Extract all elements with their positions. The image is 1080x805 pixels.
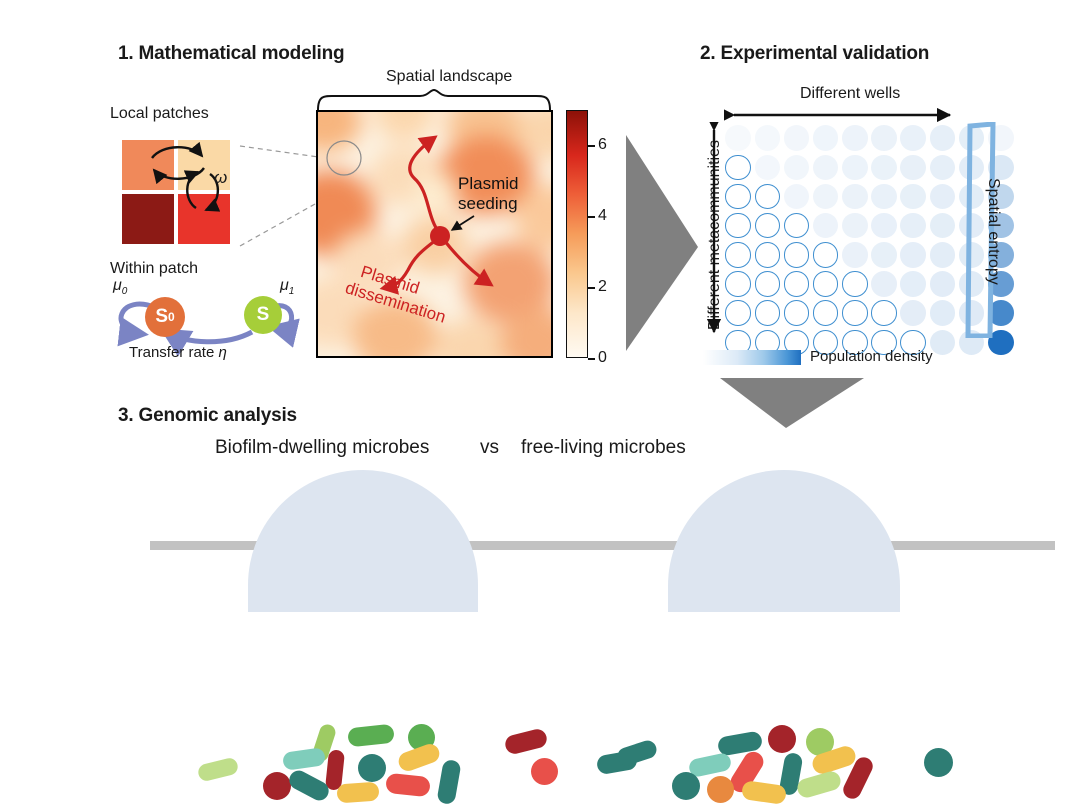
well-faint[interactable] [900,271,926,297]
well-faint[interactable] [900,242,926,268]
different-wells-label: Different wells [800,85,900,103]
well-faint[interactable] [842,155,868,181]
colorbar-tick-0: 0 [598,349,607,367]
omega-symbol: ω [214,168,227,188]
well-open[interactable] [755,271,781,297]
well-open[interactable] [725,271,751,297]
well-open[interactable] [725,213,751,239]
well-faint[interactable] [900,125,926,151]
well-open[interactable] [725,184,751,210]
well-faint[interactable] [930,155,956,181]
well-faint[interactable] [813,213,839,239]
population-density-label: Population density [810,348,933,365]
well-faint[interactable] [725,125,751,151]
well-faint[interactable] [900,213,926,239]
biofilm-dwelling-label: Biofilm-dwelling microbes [215,437,429,459]
well-faint[interactable] [784,155,810,181]
biofilm-dome-right [668,470,900,612]
well-faint[interactable] [871,155,897,181]
well-faint[interactable] [871,184,897,210]
panel-1-title: 1. Mathematical modeling [118,43,344,65]
well-faint[interactable] [755,155,781,181]
node-donor-label: S [257,304,270,326]
well-faint[interactable] [930,300,956,326]
vs-label: vs [480,437,499,459]
well-open[interactable] [784,300,810,326]
well-faint[interactable] [842,184,868,210]
well-faint[interactable] [930,213,956,239]
well-open[interactable] [842,271,868,297]
colorbar-tick-2: 2 [598,278,607,296]
well-open[interactable] [755,184,781,210]
plasmid-seeding-label: Plasmid seeding [458,174,518,214]
node-plasmid-free-label: S [155,306,168,328]
well-faint[interactable] [900,300,926,326]
biofilm-dome-left [248,470,478,612]
well-open[interactable] [755,300,781,326]
well-faint[interactable] [930,184,956,210]
landscape-brace [316,88,554,112]
well-faint[interactable] [755,125,781,151]
well-faint[interactable] [842,242,868,268]
well-open[interactable] [784,271,810,297]
metacommunities-axis-arrow [707,122,721,340]
arrow-down-icon [636,378,868,430]
mu1-symbol: μ1 [280,277,294,297]
well-faint[interactable] [871,125,897,151]
spatial-entropy-label: Spatial entropy [984,178,1002,285]
well-faint[interactable] [842,213,868,239]
panel-2-title: 2. Experimental validation [700,43,929,65]
local-patches-label: Local patches [110,105,209,123]
well-open[interactable] [842,300,868,326]
colorbar-tick-6: 6 [598,136,607,154]
colorbar-wrap: 0 2 4 6 [566,110,588,358]
well-open[interactable] [755,242,781,268]
well-open[interactable] [725,300,751,326]
well-faint[interactable] [813,125,839,151]
node-donor: S [244,296,282,334]
well-open[interactable] [813,242,839,268]
well-faint[interactable] [930,330,956,356]
well-faint[interactable] [813,155,839,181]
transfer-rate-label: Transfer rate η [129,344,227,361]
within-patch-label: Within patch [110,260,198,278]
well-faint[interactable] [871,213,897,239]
spatial-landscape-heatmap: Plasmid seeding Plasmid dissemination [316,110,553,358]
colorbar-gradient [566,110,588,358]
well-faint[interactable] [784,184,810,210]
free-living-label: free-living microbes [521,437,686,459]
well-faint[interactable] [842,125,868,151]
colorbar-tick-4: 4 [598,207,607,225]
node-plasmid-free: S0 [145,297,185,337]
well-open[interactable] [784,213,810,239]
well-faint[interactable] [813,184,839,210]
well-faint[interactable] [930,242,956,268]
well-open[interactable] [871,300,897,326]
well-faint[interactable] [930,125,956,151]
mu0-symbol: μ0 [113,277,127,297]
well-open[interactable] [784,242,810,268]
well-open[interactable] [813,300,839,326]
panel-3-title: 3. Genomic analysis [118,405,297,427]
node-plasmid-free-sub: 0 [168,310,175,324]
well-open[interactable] [755,213,781,239]
well-faint[interactable] [871,242,897,268]
well-faint[interactable] [900,155,926,181]
well-open[interactable] [813,271,839,297]
well-faint[interactable] [900,184,926,210]
spatial-landscape-label: Spatial landscape [386,68,512,86]
well-faint[interactable] [930,271,956,297]
well-faint[interactable] [784,125,810,151]
well-open[interactable] [725,242,751,268]
well-open[interactable] [725,155,751,181]
arrow-right-icon [618,135,702,355]
wells-axis-arrow [724,108,960,122]
well-faint[interactable] [871,271,897,297]
population-density-gradient [703,350,801,365]
